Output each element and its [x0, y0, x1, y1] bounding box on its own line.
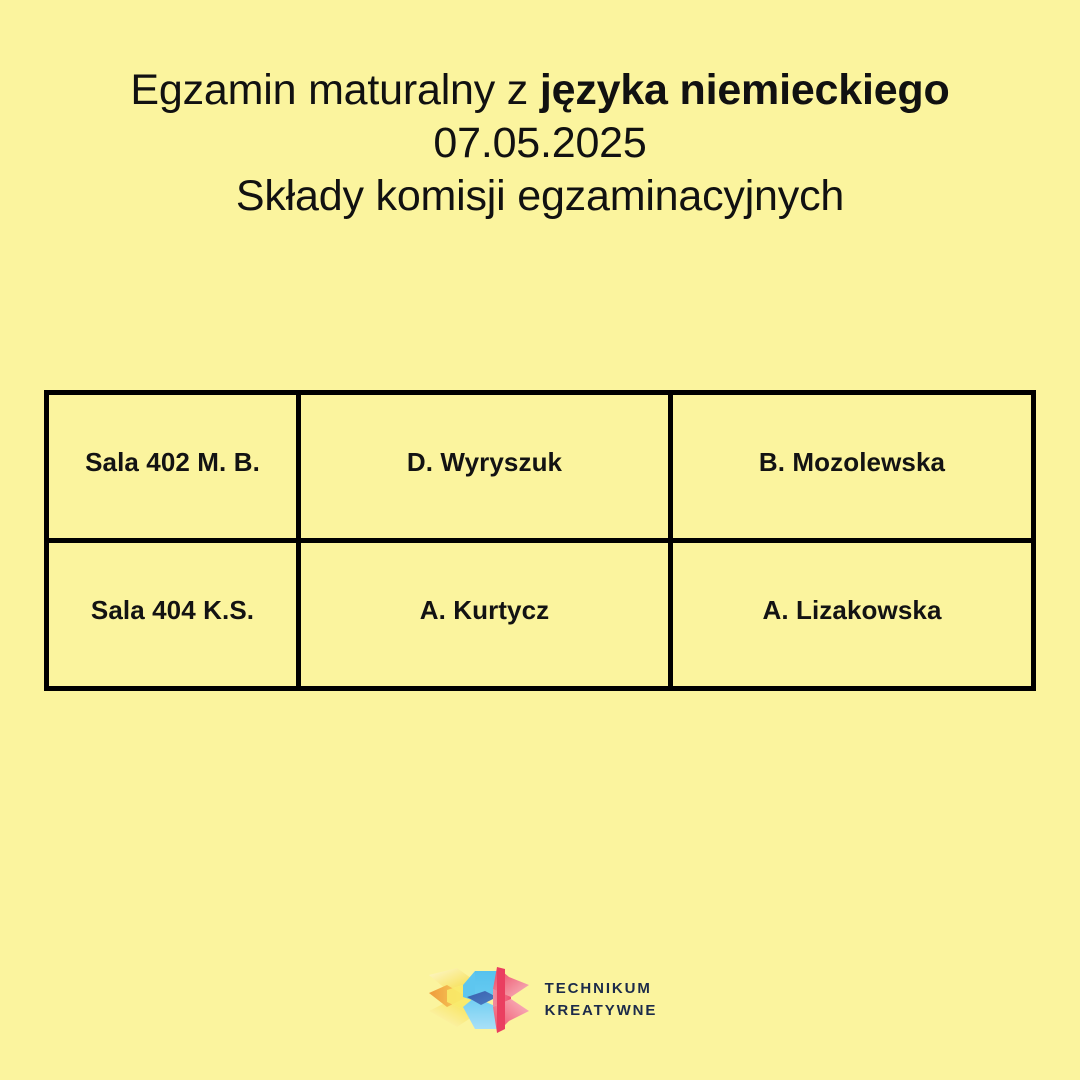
exam-committee-table: Sala 402 M. B. D. Wyryszuk B. Mozolewska… — [44, 390, 1036, 691]
member-cell-1: A. Kurtycz — [301, 543, 673, 686]
room-cell: Sala 402 M. B. — [49, 395, 301, 538]
title-line-date: 07.05.2025 — [0, 117, 1080, 170]
table-row: Sala 402 M. B. D. Wyryszuk B. Mozolewska — [49, 395, 1031, 543]
technikum-kreatywne-logo-icon — [423, 963, 531, 1037]
member-cell-2: A. Lizakowska — [673, 543, 1031, 686]
footer-logo: TECHNIKUM KREATYWNE — [0, 963, 1080, 1037]
page-title: Egzamin maturalny z języka niemieckiego … — [0, 64, 1080, 223]
logo-name-line-2: KREATYWNE — [545, 1000, 658, 1022]
logo-name-line-1: TECHNIKUM — [545, 978, 658, 1000]
member-cell-1: D. Wyryszuk — [301, 395, 673, 538]
room-cell: Sala 404 K.S. — [49, 543, 301, 686]
member-cell-2: B. Mozolewska — [673, 395, 1031, 538]
title-subject-bold: języka niemieckiego — [540, 66, 950, 114]
table-row: Sala 404 K.S. A. Kurtycz A. Lizakowska — [49, 543, 1031, 686]
title-line-subtitle: Składy komisji egzaminacyjnych — [0, 170, 1080, 223]
title-subject-prefix: Egzamin maturalny z — [130, 66, 539, 114]
title-line-subject: Egzamin maturalny z języka niemieckiego — [0, 64, 1080, 117]
logo-wordmark: TECHNIKUM KREATYWNE — [545, 978, 658, 1022]
